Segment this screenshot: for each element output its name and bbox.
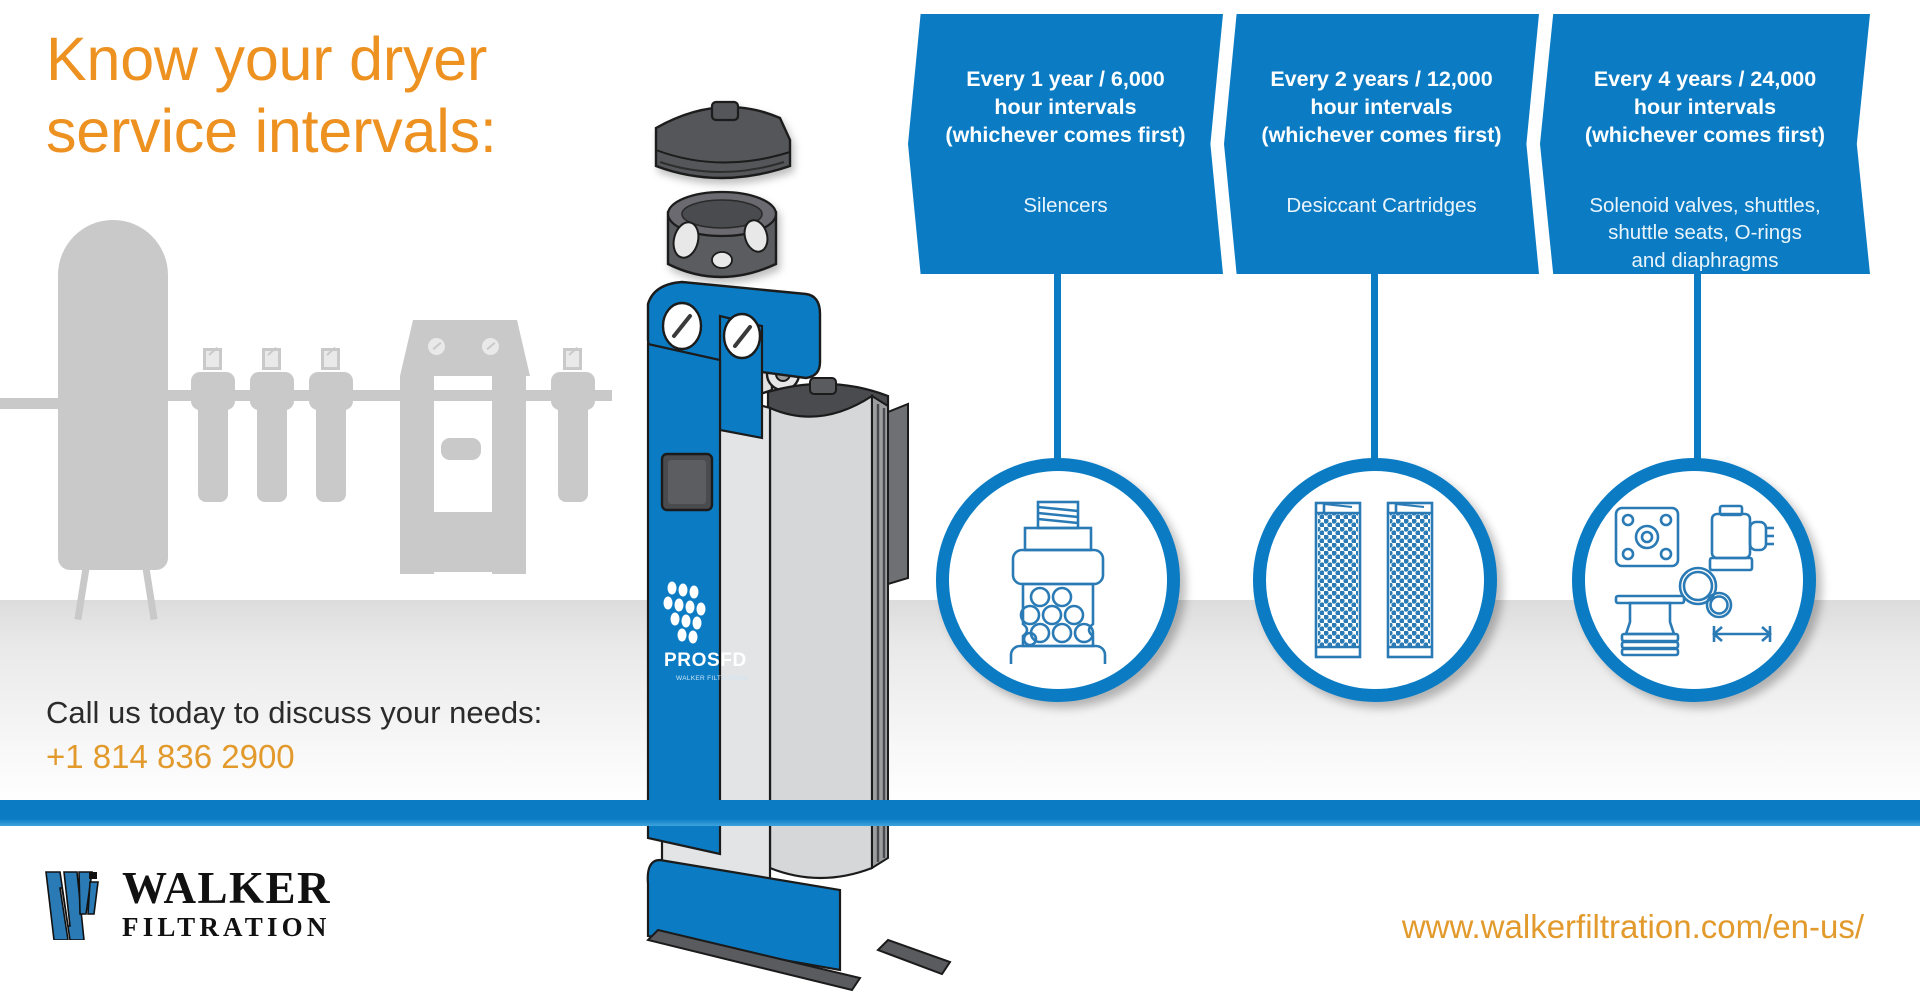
interval-panel-2[interactable]: Every 2 years / 12,000 hour intervals (w…: [1224, 14, 1539, 274]
icon-circle-desiccant[interactable]: [1253, 458, 1497, 702]
interval-panel-3-parts: Solenoid valves, shuttles, shuttle seats…: [1589, 192, 1820, 275]
interval-panel-2-title: Every 2 years / 12,000 hour intervals (w…: [1261, 66, 1501, 150]
interval-panel-3-title-line-3: (whichever comes first): [1585, 122, 1825, 150]
connector-stem-1: [1054, 274, 1061, 464]
ghost-filter-body-1: [198, 408, 228, 502]
dryer-exploded-collar: [668, 192, 776, 277]
page-title-line-1: Know your dryer: [46, 24, 666, 96]
ghost-filter-body-3: [316, 408, 346, 502]
interval-panel-3-parts-line-3: and diaphragms: [1589, 247, 1820, 275]
cta-phone-number[interactable]: +1 814 836 2900: [46, 736, 686, 779]
ghost-dryer-gauge-2: [482, 338, 499, 355]
shuttle-seat-plate: [1616, 508, 1678, 566]
interval-panel-1-title-line-2: hour intervals: [945, 94, 1185, 122]
blue-divider-bar: [0, 800, 1920, 826]
icon-circle-valve-parts[interactable]: [1572, 458, 1816, 702]
logo-secondary-text: FILTRATION: [122, 914, 331, 941]
interval-panel-1-title-line-1: Every 1 year / 6,000: [945, 66, 1185, 94]
ghost-filter-body-4: [558, 408, 588, 502]
ghost-dryer-gauge-1: [428, 338, 445, 355]
call-to-action: Call us today to discuss your needs: +1 …: [46, 694, 686, 779]
interval-panel-3-title-line-1: Every 4 years / 24,000: [1585, 66, 1825, 94]
ghost-filter-gauge-1: [203, 348, 222, 370]
ghost-pipe-inlet: [0, 398, 60, 409]
website-url[interactable]: www.walkerfiltration.com/en-us/: [1402, 908, 1864, 946]
interval-panel-2-parts-line-1: Desiccant Cartridges: [1286, 192, 1476, 220]
page-title-line-2: service intervals:: [46, 96, 666, 168]
ghost-filter-head-2: [250, 372, 294, 410]
silencer-icon: [983, 496, 1133, 664]
desiccant-cartridge-icon: [1300, 495, 1450, 665]
dryer-model-text: PROSFD: [664, 650, 747, 671]
dryer-exploded-cap: [656, 102, 790, 178]
ghost-dryer-top: [400, 320, 530, 376]
connector-stem-3: [1694, 274, 1701, 464]
interval-panel-2-title-line-3: (whichever comes first): [1261, 122, 1501, 150]
interval-panel-3-title-line-2: hour intervals: [1585, 94, 1825, 122]
interval-panel-3-title: Every 4 years / 24,000 hour intervals (w…: [1585, 66, 1825, 150]
interval-panel-1-title: Every 1 year / 6,000 hour intervals (whi…: [945, 66, 1185, 150]
ghost-filter-head-1: [191, 372, 235, 410]
interval-panel-1-parts: Silencers: [1023, 192, 1107, 220]
cta-text: Call us today to discuss your needs:: [46, 694, 686, 732]
interval-panel-2-title-line-1: Every 2 years / 12,000: [1261, 66, 1501, 94]
interval-panel-3-parts-line-2: shuttle seats, O-rings: [1589, 219, 1820, 247]
interval-panel-1-title-line-3: (whichever comes first): [945, 122, 1185, 150]
dryer-blue-front-panel: [648, 344, 720, 854]
page-title: Know your dryer service intervals:: [46, 24, 666, 168]
dryer-brand-text: WALKER FILTRATION: [676, 675, 747, 682]
dryer-control-display: [662, 454, 712, 510]
ghost-filter-gauge-2: [262, 348, 281, 370]
logo-primary-text: WALKER: [122, 866, 331, 911]
company-logo[interactable]: WALKER FILTRATION: [44, 866, 331, 941]
interval-panel-3-parts-line-1: Solenoid valves, shuttles,: [1589, 192, 1820, 220]
interval-panel-2-title-line-2: hour intervals: [1261, 94, 1501, 122]
ghost-dryer-display: [441, 438, 481, 460]
walker-w-mark: [44, 868, 106, 940]
icon-circle-silencer[interactable]: [936, 458, 1180, 702]
ghost-filter-body-2: [257, 408, 287, 502]
logo-wordmark: WALKER FILTRATION: [122, 866, 331, 941]
ghost-filter-gauge-3: [321, 348, 340, 370]
dimension-arrow: [1714, 626, 1770, 642]
interval-panel-1-parts-line-1: Silencers: [1023, 192, 1107, 220]
interval-panel-1[interactable]: Every 1 year / 6,000 hour intervals (whi…: [908, 14, 1223, 274]
interval-panel-2-parts: Desiccant Cartridges: [1286, 192, 1476, 220]
ghost-filter-head-3: [309, 372, 353, 410]
valve-parts-icon: [1610, 500, 1778, 660]
ghost-filter-head-4: [551, 372, 595, 410]
ghost-pipe-outlet: [592, 390, 612, 401]
o-rings: [1680, 568, 1731, 617]
connector-stem-2: [1371, 274, 1378, 464]
shuttle-spool: [1616, 596, 1684, 655]
solenoid-valve: [1710, 506, 1774, 570]
dryer-rear-fins: [872, 396, 908, 868]
ghost-dryer-base: [400, 512, 526, 572]
interval-panel-3[interactable]: Every 4 years / 24,000 hour intervals (w…: [1540, 14, 1870, 274]
ghost-air-receiver: [58, 220, 168, 570]
infographic-canvas: Know your dryer service intervals: Call …: [0, 0, 1920, 1008]
ghost-filter-gauge-4: [563, 348, 582, 370]
